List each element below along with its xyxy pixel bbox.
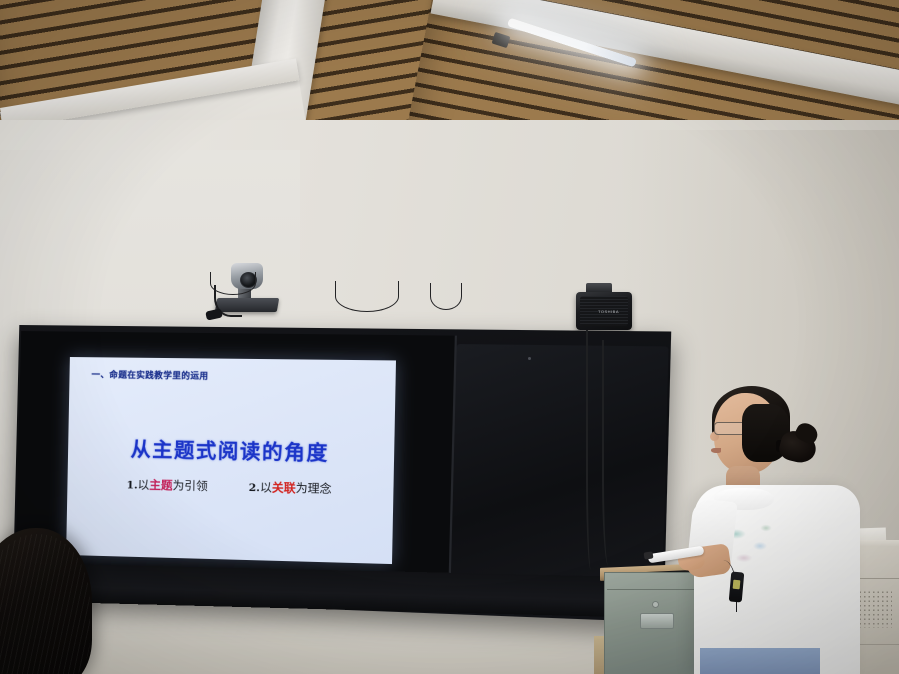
bullet-2-pre: 以: [260, 480, 272, 494]
display-indicator-dot: [528, 357, 531, 360]
pointer-stick-tip: [644, 551, 654, 559]
bullet-1-post: 为引领: [172, 478, 207, 493]
bullet-2-highlight: 关联: [272, 480, 296, 495]
cabinet-vent-grille: [858, 590, 892, 628]
bullet-1-pre: 以: [138, 477, 150, 491]
slide-title-text: 从主题式阅读的角度: [68, 432, 395, 467]
presenter-mouth: [711, 448, 721, 453]
display-cable-1: [210, 272, 256, 295]
bullet-1-number: 1.: [126, 479, 137, 491]
slide-bullet-list: 1.以主题为引领 2.以关联为理念: [67, 475, 393, 498]
slide-bullet-1: 1.以主题为引领: [126, 476, 207, 494]
presenter-jeans: [700, 648, 820, 674]
bullet-2-post: 为理念: [296, 481, 332, 496]
podium-lock-icon[interactable]: [652, 601, 659, 608]
bullet-1-highlight: 主题: [149, 478, 173, 493]
speaker-brand-label: TOSHIBA: [598, 309, 619, 314]
classroom-photo-scene: TOSHIBA 一、命题在实践教学里的运用 从主题式阅读的角度 1.以主题为引领…: [0, 0, 899, 674]
wall-cable-run-2: [602, 340, 618, 566]
podium-handle[interactable]: [640, 613, 674, 629]
bullet-2-number: 2.: [249, 482, 261, 494]
interactive-display[interactable]: 一、命题在实践教学里的运用 从主题式阅读的角度 1.以主题为引领 2.以关联为理…: [16, 325, 628, 615]
slide-bullet-2: 2.以关联为理念: [249, 479, 332, 497]
display-cable-3: [430, 283, 462, 310]
presentation-slide: 一、命题在实践教学里的运用 从主题式阅读的角度 1.以主题为引领 2.以关联为理…: [66, 357, 396, 564]
display-cable-2: [335, 281, 399, 312]
remote-indicator-led: [733, 580, 741, 590]
wall-cable-run-1: [586, 330, 598, 570]
slide-header-text: 一、命题在实践教学里的运用: [91, 368, 208, 381]
